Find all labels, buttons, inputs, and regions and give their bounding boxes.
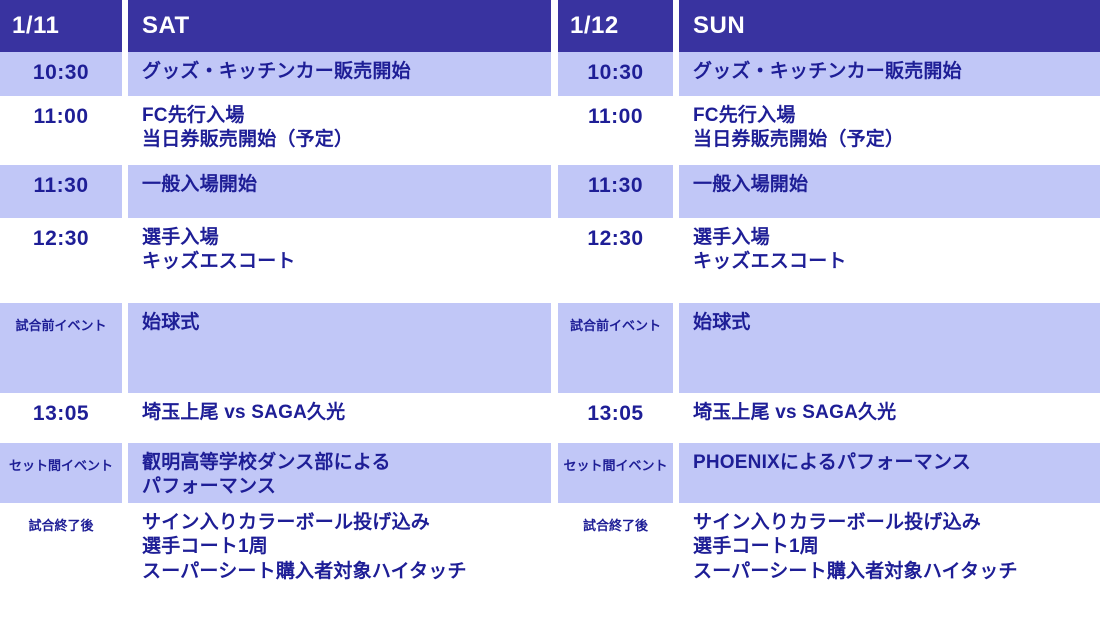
row-event-saturday: グッズ・キッチンカー販売開始 bbox=[128, 52, 551, 96]
row-event-saturday: 埼玉上尾 vs SAGA久光 bbox=[128, 393, 551, 443]
row-event-saturday: 始球式 bbox=[128, 303, 551, 393]
schedule-row: 11:00FC先行入場 当日券販売開始（予定）11:00FC先行入場 当日券販売… bbox=[0, 96, 1100, 165]
row-time-saturday: 11:00 bbox=[0, 96, 122, 165]
row-time-saturday: 12:30 bbox=[0, 218, 122, 303]
row-time-sunday: 10:30 bbox=[558, 52, 673, 96]
row-gap-middle bbox=[551, 303, 558, 393]
row-event-sunday: FC先行入場 当日券販売開始（予定） bbox=[679, 96, 1100, 165]
header-date-saturday: 1/11 bbox=[0, 0, 122, 52]
row-time-sunday: 12:30 bbox=[558, 218, 673, 303]
row-time-saturday: 10:30 bbox=[0, 52, 122, 96]
row-event-sunday: サイン入りカラーボール投げ込み 選手コート1周 スーパーシート購入者対象ハイタッ… bbox=[679, 503, 1100, 619]
schedule-rows: 10:30グッズ・キッチンカー販売開始10:30グッズ・キッチンカー販売開始11… bbox=[0, 52, 1100, 619]
row-event-sunday: 始球式 bbox=[679, 303, 1100, 393]
header-gap-middle bbox=[551, 0, 558, 52]
row-time-sunday: 13:05 bbox=[558, 393, 673, 443]
row-gap-middle bbox=[551, 443, 558, 503]
row-event-saturday: サイン入りカラーボール投げ込み 選手コート1周 スーパーシート購入者対象ハイタッ… bbox=[128, 503, 551, 619]
event-schedule-board: 1/11 SAT 1/12 SUN 10:30グッズ・キッチンカー販売開始10:… bbox=[0, 0, 1100, 619]
row-event-saturday: FC先行入場 当日券販売開始（予定） bbox=[128, 96, 551, 165]
row-time-saturday: 試合前イベント bbox=[0, 303, 122, 393]
row-event-sunday: 選手入場 キッズエスコート bbox=[679, 218, 1100, 303]
schedule-row: 10:30グッズ・キッチンカー販売開始10:30グッズ・キッチンカー販売開始 bbox=[0, 52, 1100, 96]
schedule-header-row: 1/11 SAT 1/12 SUN bbox=[0, 0, 1100, 52]
schedule-row: 試合終了後サイン入りカラーボール投げ込み 選手コート1周 スーパーシート購入者対… bbox=[0, 503, 1100, 619]
schedule-row: セット間イベント叡明高等学校ダンス部による パフォーマンスセット間イベントPHO… bbox=[0, 443, 1100, 503]
row-gap-middle bbox=[551, 503, 558, 619]
schedule-row: 試合前イベント始球式試合前イベント始球式 bbox=[0, 303, 1100, 393]
row-event-sunday: 埼玉上尾 vs SAGA久光 bbox=[679, 393, 1100, 443]
schedule-row: 13:05埼玉上尾 vs SAGA久光13:05埼玉上尾 vs SAGA久光 bbox=[0, 393, 1100, 443]
row-time-saturday: セット間イベント bbox=[0, 443, 122, 503]
row-time-saturday: 11:30 bbox=[0, 165, 122, 218]
header-date-sunday: 1/12 bbox=[558, 0, 673, 52]
row-time-saturday: 試合終了後 bbox=[0, 503, 122, 619]
row-time-saturday: 13:05 bbox=[0, 393, 122, 443]
row-gap-middle bbox=[551, 393, 558, 443]
schedule-row: 11:30一般入場開始11:30一般入場開始 bbox=[0, 165, 1100, 218]
row-time-sunday: 試合前イベント bbox=[558, 303, 673, 393]
row-event-sunday: PHOENIXによるパフォーマンス bbox=[679, 443, 1100, 503]
row-event-saturday: 叡明高等学校ダンス部による パフォーマンス bbox=[128, 443, 551, 503]
row-time-sunday: 試合終了後 bbox=[558, 503, 673, 619]
row-gap-middle bbox=[551, 218, 558, 303]
row-gap-middle bbox=[551, 165, 558, 218]
row-event-saturday: 一般入場開始 bbox=[128, 165, 551, 218]
row-event-saturday: 選手入場 キッズエスコート bbox=[128, 218, 551, 303]
row-gap-middle bbox=[551, 96, 558, 165]
row-gap-middle bbox=[551, 52, 558, 96]
row-time-sunday: セット間イベント bbox=[558, 443, 673, 503]
row-time-sunday: 11:00 bbox=[558, 96, 673, 165]
schedule-row: 12:30選手入場 キッズエスコート12:30選手入場 キッズエスコート bbox=[0, 218, 1100, 303]
header-day-saturday: SAT bbox=[128, 0, 551, 52]
header-day-sunday: SUN bbox=[679, 0, 1100, 52]
row-event-sunday: グッズ・キッチンカー販売開始 bbox=[679, 52, 1100, 96]
row-event-sunday: 一般入場開始 bbox=[679, 165, 1100, 218]
row-time-sunday: 11:30 bbox=[558, 165, 673, 218]
